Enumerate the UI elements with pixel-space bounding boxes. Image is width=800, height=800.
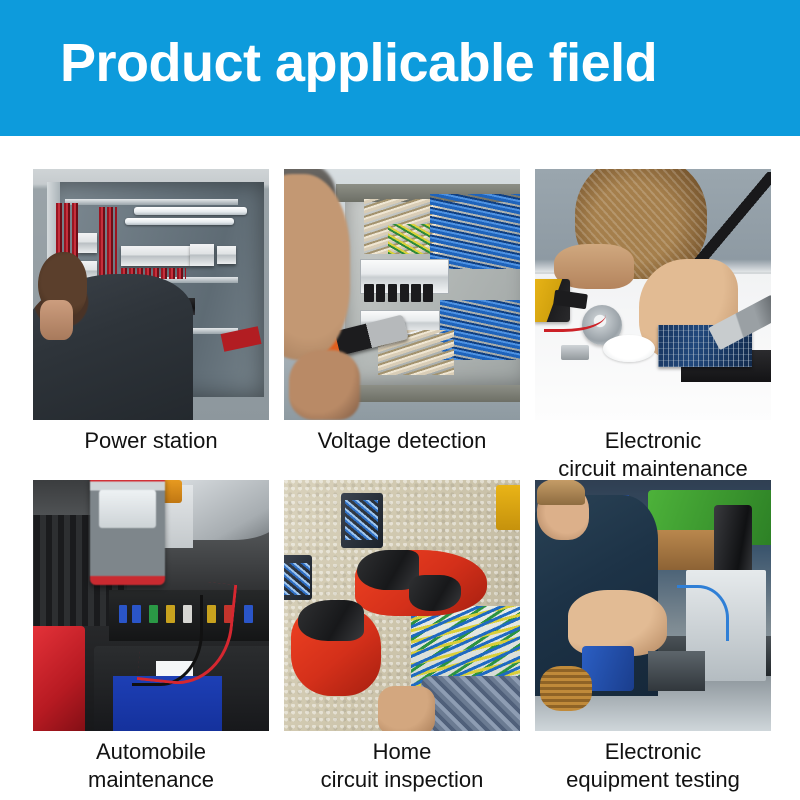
electronic-equipment-testing-photo (535, 480, 771, 731)
gallery-cell-caption: Electronic equipment testing (535, 731, 771, 791)
electronic-circuit-maintenance-photo (535, 169, 771, 420)
caption-line: Electronic (535, 427, 771, 455)
header-banner: Product applicable field (0, 0, 800, 136)
caption-line: Power station (33, 427, 269, 455)
gallery-grid: Power station Voltage de (33, 169, 771, 791)
gallery-cell-caption: Power station (33, 420, 269, 480)
gallery-cell-power-station[interactable]: Power station (33, 169, 269, 480)
caption-line: equipment testing (535, 766, 771, 794)
gallery-cell-home-circuit-inspection[interactable]: Home circuit inspection (284, 480, 520, 791)
voltage-detection-photo (284, 169, 520, 420)
gallery-cell-caption: Home circuit inspection (284, 731, 520, 791)
gallery-cell-caption: Electronic circuit maintenance (535, 420, 771, 480)
caption-line: Automobile (33, 738, 269, 766)
caption-line: Voltage detection (284, 427, 520, 455)
gallery-cell-electronic-circuit-maintenance[interactable]: Electronic circuit maintenance (535, 169, 771, 480)
automobile-maintenance-photo (33, 480, 269, 731)
caption-line: circuit inspection (284, 766, 520, 794)
power-station-photo (33, 169, 269, 420)
caption-line: maintenance (33, 766, 269, 794)
caption-line: Home (284, 738, 520, 766)
gallery-cell-voltage-detection[interactable]: Voltage detection (284, 169, 520, 480)
caption-line: circuit maintenance (535, 455, 771, 483)
page-title: Product applicable field (60, 30, 657, 96)
gallery-cell-automobile-maintenance[interactable]: Automobile maintenance (33, 480, 269, 791)
gallery-cell-caption: Voltage detection (284, 420, 520, 480)
caption-line: Electronic (535, 738, 771, 766)
home-circuit-inspection-photo (284, 480, 520, 731)
gallery-cell-electronic-equipment-testing[interactable]: Electronic equipment testing (535, 480, 771, 791)
gallery-cell-caption: Automobile maintenance (33, 731, 269, 791)
